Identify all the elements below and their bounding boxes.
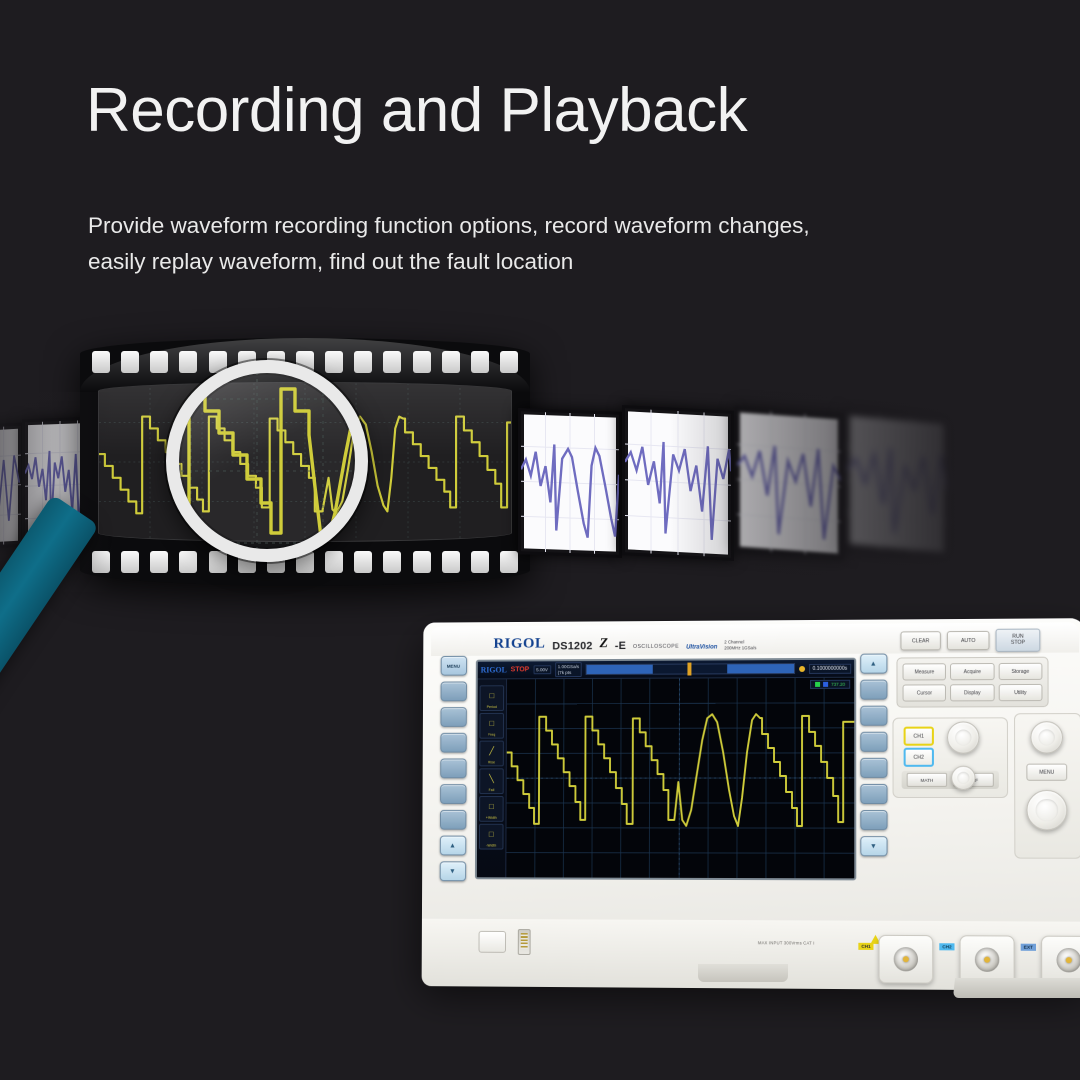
sidebar-item-freq[interactable]: □ Freq [479,713,504,739]
right-softkey-1[interactable] [860,680,887,700]
freq-icon: □ [489,714,494,733]
trigger-indicator-icon [799,665,805,671]
right-scroll-down-button[interactable]: ▼ [860,836,887,856]
bnc-connector-ch1[interactable] [879,935,934,984]
scope-stand-left [698,964,788,982]
ch1-scale-readout: 5.00V [533,665,551,675]
trigger-menu-button[interactable]: MENU [1026,764,1067,781]
memory-position-bar[interactable] [586,663,795,675]
waveform-grid: 737.20 [506,678,854,879]
utility-button[interactable]: Utility [998,684,1042,701]
cursor-button[interactable]: Cursor [903,684,947,701]
bnc-label-ext: EXT [1021,944,1036,951]
negative-width-icon: □ [489,825,494,844]
display-button[interactable]: Display [950,684,994,701]
sample-rate-readout: 1.00GSa/s (7k pts [555,662,582,677]
display-sidebar-menu: □ Period □ Freq ╱ Rise ╲ Fall [477,679,507,877]
timebase-readout: 0.1000000000s [809,663,852,673]
ch1-button[interactable]: CH1 [904,727,934,746]
fall-time-icon: ╲ [489,769,494,788]
vertical-position-knob[interactable] [951,766,975,790]
waveform-filmstrip [0,332,930,597]
bnc-label-ch1: CH1 [858,943,873,950]
magnifier [166,360,368,562]
sidebar-item-neg-width[interactable]: □ -Width [479,824,504,850]
left-softkey-5[interactable] [440,784,466,804]
mini-waveform-icon [625,408,731,558]
math-button[interactable]: MATH [907,773,947,787]
sidebar-label: Rise [488,760,495,765]
mini-waveform-icon [847,413,947,556]
oscilloscope: RIGOL DS1202 Z -E OSCILLOSCOPE UltraVisi… [418,612,1080,1012]
brand-logo: RIGOL [493,636,545,653]
measure-button[interactable]: Measure [903,663,947,680]
function-button-grid: Measure Acquire Storage Cursor Display U… [896,657,1048,708]
sidebar-label: Freq [488,733,495,738]
product-category: OSCILLOSCOPE [633,644,679,652]
model-suffix: -E [615,640,626,652]
filmstrip-frame-right-1 [518,408,622,558]
left-softkey-3[interactable] [440,733,466,753]
math-ref-row: MATH REF [902,771,999,789]
positive-width-icon: □ [489,797,494,816]
bnc-label-ch2: CH2 [939,943,954,950]
left-softkey-column: MENU ▲ ▼ [440,656,466,881]
right-softkey-column: ▲ ▼ [860,654,886,857]
menu-softkey[interactable]: MENU [440,656,466,676]
sample-rate-value: 1.00GSa/s [558,664,579,669]
left-softkey-6[interactable] [439,810,465,830]
sidebar-item-rise[interactable]: ╱ Rise [479,741,504,767]
left-softkey-1[interactable] [440,681,466,701]
mini-waveform-icon [521,411,619,554]
page-subcopy: Provide waveform recording function opti… [88,208,928,281]
ch1-marker-icon [815,682,820,687]
magnifier-glass [179,373,355,549]
right-softkey-5[interactable] [860,784,887,804]
sidebar-label: Fall [489,788,495,793]
filmstrip-frame-far-left [0,422,24,549]
model-number: DS1202 [552,640,592,652]
sidebar-label: +Width [486,816,497,821]
usb-port[interactable] [518,929,531,955]
period-icon: □ [489,686,494,705]
left-softkey-4[interactable] [440,758,466,778]
spec-bandwidth: 200MHz 1GSa/s [724,645,756,650]
spec-channels: 2 Channel [724,639,744,644]
left-softkey-2[interactable] [440,707,466,727]
spec-text: 2 Channel 200MHz 1GSa/s [724,639,756,651]
scope-chassis: RIGOL DS1202 Z -E OSCILLOSCOPE UltraVisi… [422,618,1080,982]
subcopy-line-2: easily replay waveform, find out the fau… [88,244,928,280]
auto-button[interactable]: AUTO [947,631,990,650]
right-softkey-6[interactable] [860,810,887,830]
right-softkey-3[interactable] [860,732,887,752]
right-softkey-2[interactable] [860,706,887,726]
mini-waveform-icon [737,409,841,556]
series-mark: Z [599,636,607,652]
trigger-level-knob[interactable] [1026,790,1067,830]
trigger-level-badge: 737.20 [810,680,850,689]
ultravision-logo: UltraVision [686,645,717,652]
filmstrip-frame-right-4 [844,409,950,558]
display-status-bar: RIGOL STOP 5.00V 1.00GSa/s (7k pts 0.100… [478,660,854,680]
sidebar-label: Period [487,705,497,710]
run-state-badge: STOP [511,666,530,673]
display-logo: RIGOL [481,665,507,674]
left-scroll-down-button[interactable]: ▼ [439,861,465,881]
memory-depth-value: (7k pts [558,670,572,675]
scope-stand-right [953,978,1080,998]
scope-waveform-trace [506,678,854,879]
ch2-button[interactable]: CH2 [904,748,934,767]
run-stop-button[interactable]: RUN STOP [996,629,1041,652]
rise-time-icon: ╱ [489,742,494,761]
ch2-marker-icon [823,682,828,687]
filmstrip-frame-right-2 [622,405,734,561]
sidebar-item-pos-width[interactable]: □ +Width [479,796,504,822]
trigger-level-value: 737.20 [831,682,845,687]
slide-root: Recording and Playback Provide waveform … [0,0,1080,1080]
left-scroll-up-button[interactable]: ▲ [439,836,465,856]
filmstrip-frame-right-3 [734,406,844,560]
bnc-connector-ch2[interactable] [960,935,1015,984]
run-stop-line-2: STOP [1011,640,1025,646]
sidebar-label: -Width [486,844,496,849]
page-title: Recording and Playback [86,78,986,145]
storage-button[interactable]: Storage [998,663,1042,680]
power-button[interactable] [479,931,507,953]
front-panel-spec-text: MAX INPUT 300Vrms CAT I [758,940,815,945]
scope-branding: RIGOL DS1202 Z -E OSCILLOSCOPE UltraVisi… [493,634,756,652]
vertical-scale-knob[interactable] [947,721,979,753]
acquire-button[interactable]: Acquire [950,663,994,680]
clear-button[interactable]: CLEAR [900,631,940,650]
horizontal-scale-knob[interactable] [1030,721,1063,753]
mini-waveform-icon [0,426,21,547]
scope-display: RIGOL STOP 5.00V 1.00GSa/s (7k pts 0.100… [475,658,856,881]
right-softkey-4[interactable] [860,758,887,778]
right-scroll-up-button[interactable]: ▲ [860,654,887,674]
sidebar-item-period[interactable]: □ Period [480,685,505,711]
sidebar-item-fall[interactable]: ╲ Fall [479,768,504,794]
subcopy-line-1: Provide waveform recording function opti… [88,208,928,244]
